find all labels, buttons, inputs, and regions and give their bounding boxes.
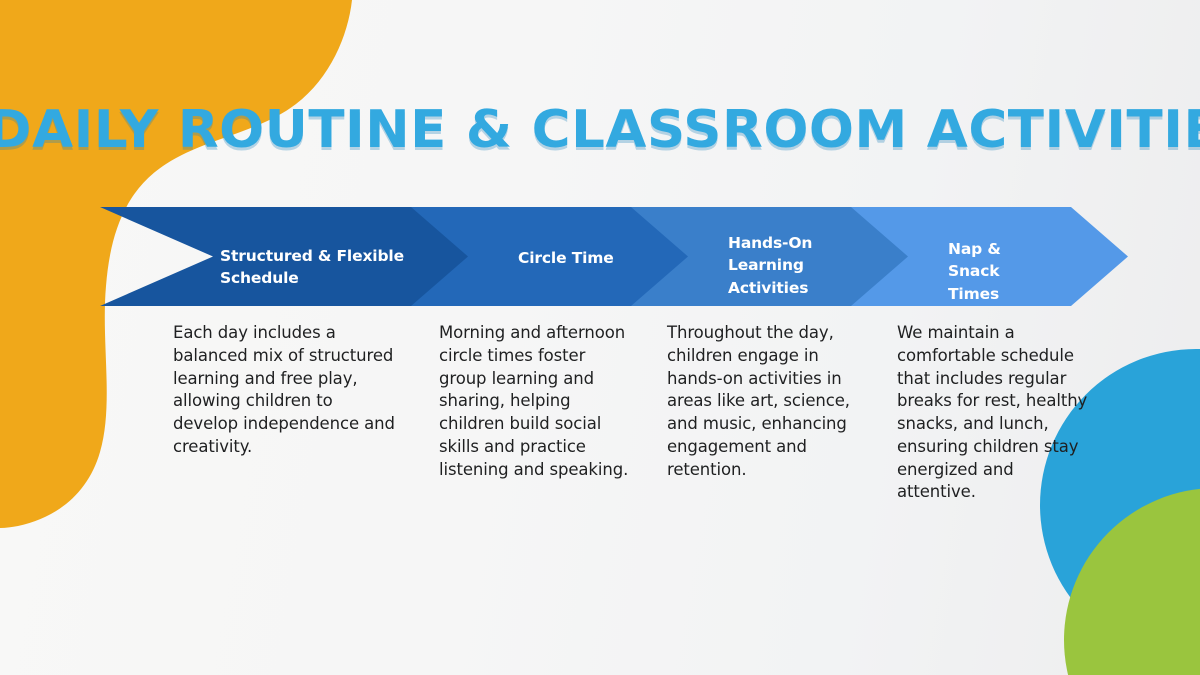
chevron-label-4: Nap & Snack Times bbox=[948, 238, 1038, 305]
slide-title-container: Daily Routine & Classroom Activities bbox=[0, 104, 1200, 156]
chevron-label-3: Hands-On Learning Activities bbox=[728, 232, 858, 299]
chevron-banner: Structured & Flexible Schedule Circle Ti… bbox=[100, 207, 1130, 306]
column-body-1: Each day includes a balanced mix of stru… bbox=[173, 322, 395, 459]
column-body-3: Throughout the day, children engage in h… bbox=[667, 322, 857, 481]
column-body-2: Morning and afternoon circle times foste… bbox=[439, 322, 631, 481]
page-title: Daily Routine & Classroom Activities bbox=[0, 104, 1200, 156]
column-body-4: We maintain a comfortable schedule that … bbox=[897, 322, 1089, 504]
description-columns: Each day includes a balanced mix of stru… bbox=[0, 322, 1200, 582]
chevron-label-2: Circle Time bbox=[518, 247, 678, 269]
chevron-label-1: Structured & Flexible Schedule bbox=[220, 245, 420, 290]
